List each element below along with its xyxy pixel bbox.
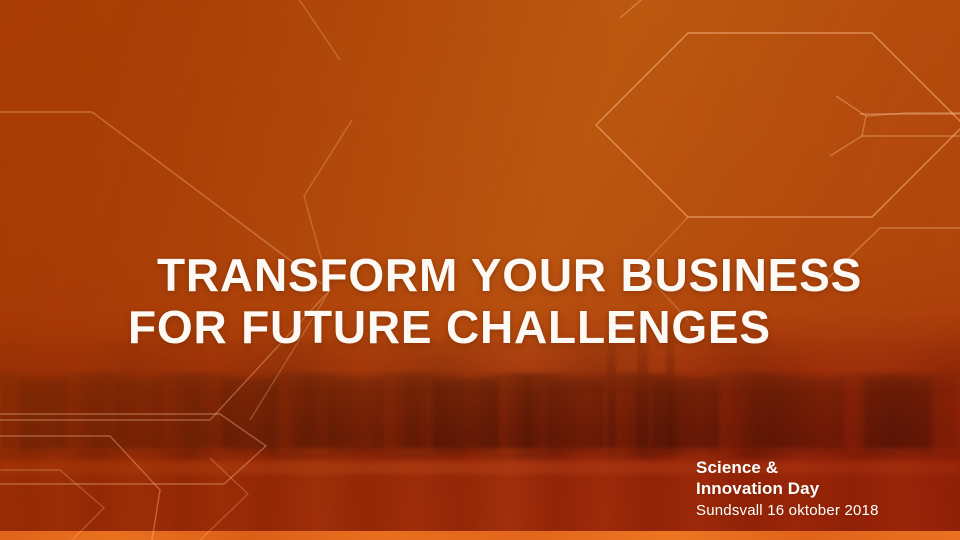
event-brand-line-1: Science &: [696, 458, 879, 479]
event-brand-line-2: Innovation Day: [696, 479, 879, 500]
title-slide: TRANSFORM YOUR BUSINESS FOR FUTURE CHALL…: [0, 0, 960, 540]
event-brand: Science & Innovation Day: [696, 458, 879, 499]
headline-line-2: FOR FUTURE CHALLENGES: [122, 301, 882, 353]
event-lockup: Science & Innovation Day Sundsvall 16 ok…: [696, 458, 879, 520]
headline-line-1: TRANSFORM YOUR BUSINESS: [122, 249, 882, 301]
event-details: Sundsvall 16 oktober 2018: [696, 502, 879, 520]
page-title: TRANSFORM YOUR BUSINESS FOR FUTURE CHALL…: [122, 249, 882, 353]
bottom-accent-band: [0, 531, 960, 540]
